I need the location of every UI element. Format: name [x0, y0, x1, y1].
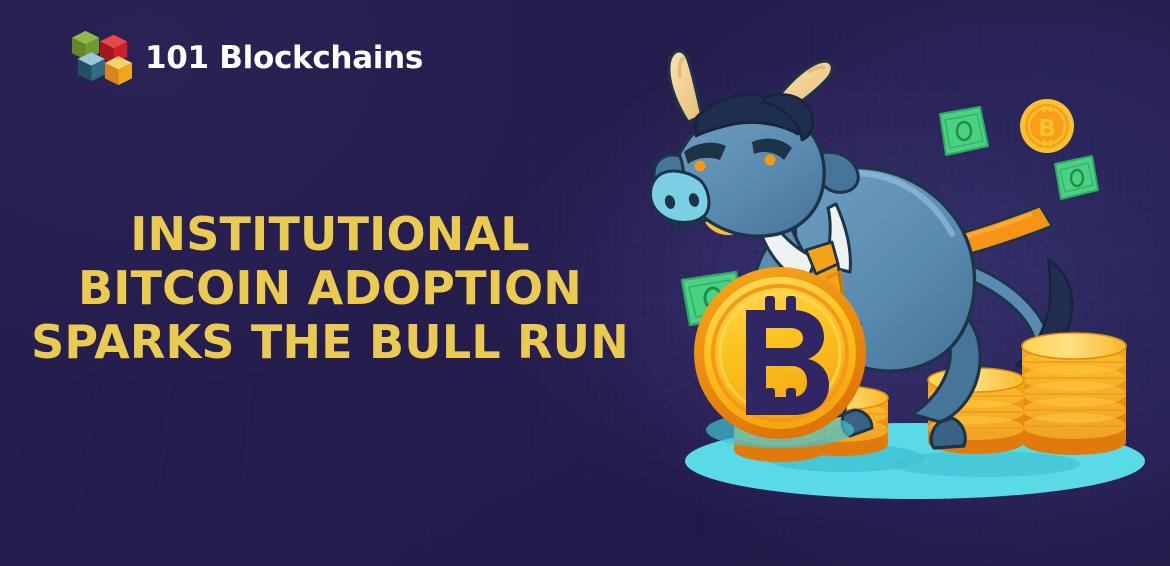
- logo-wordmark: 101 Blockchains: [145, 40, 423, 76]
- page-title: INSTITUTIONAL BITCOIN ADOPTION SPARKS TH…: [0, 207, 660, 369]
- dollar-bill-right: [1055, 156, 1098, 199]
- bull-eye-right: [765, 155, 776, 166]
- bull-eye-left: [695, 161, 706, 172]
- banner-root: 101 Blockchains INSTITUTIONAL BITCOIN AD…: [0, 0, 1170, 566]
- bitcoin-coin-large: [694, 267, 866, 448]
- svg-text:B: B: [1038, 116, 1056, 142]
- bull-market-bitcoin-illustration: B B: [640, 28, 1170, 528]
- headline-line-1: INSTITUTIONAL: [0, 207, 660, 261]
- site-logo[interactable]: 101 Blockchains: [70, 27, 423, 89]
- headline-line-3: SPARKS THE BULL RUN: [0, 315, 660, 369]
- bitcoin-coin-small-right: B: [1020, 99, 1074, 153]
- headline-line-2: BITCOIN ADOPTION: [0, 261, 660, 315]
- four-cubes-icon: [70, 27, 132, 89]
- coin-stack-tall: [1022, 333, 1126, 455]
- dollar-bill-top: [940, 107, 988, 155]
